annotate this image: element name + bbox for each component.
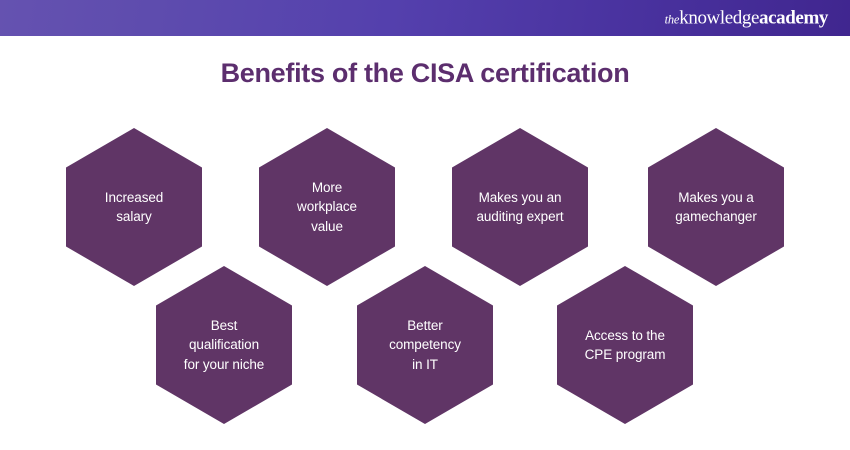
hexagon-best-qualification-for-your-niche[interactable]: Best qualification for your niche	[156, 266, 292, 424]
hexagon-label: More workplace value	[297, 178, 357, 235]
hexagon-label: Best qualification for your niche	[184, 316, 264, 373]
hexagon-access-to-the-cpe-program[interactable]: Access to the CPE program	[557, 266, 693, 424]
hexagon-increased-salary[interactable]: Increased salary	[66, 128, 202, 286]
hexagon-label: Makes you an auditing expert	[476, 188, 563, 226]
hexagon-label: Makes you a gamechanger	[675, 188, 756, 226]
hexagon-more-workplace-value[interactable]: More workplace value	[259, 128, 395, 286]
hexagon-label: Access to the CPE program	[585, 326, 666, 364]
hexagon-makes-you-an-auditing-expert[interactable]: Makes you an auditing expert	[452, 128, 588, 286]
hexagon-diagram: Increased salary More workplace value Ma…	[0, 0, 850, 450]
hexagon-label: Increased salary	[105, 188, 163, 226]
hexagon-makes-you-a-gamechanger[interactable]: Makes you a gamechanger	[648, 128, 784, 286]
hexagon-label: Better competency in IT	[389, 316, 461, 373]
hexagon-better-competency-in-it[interactable]: Better competency in IT	[357, 266, 493, 424]
